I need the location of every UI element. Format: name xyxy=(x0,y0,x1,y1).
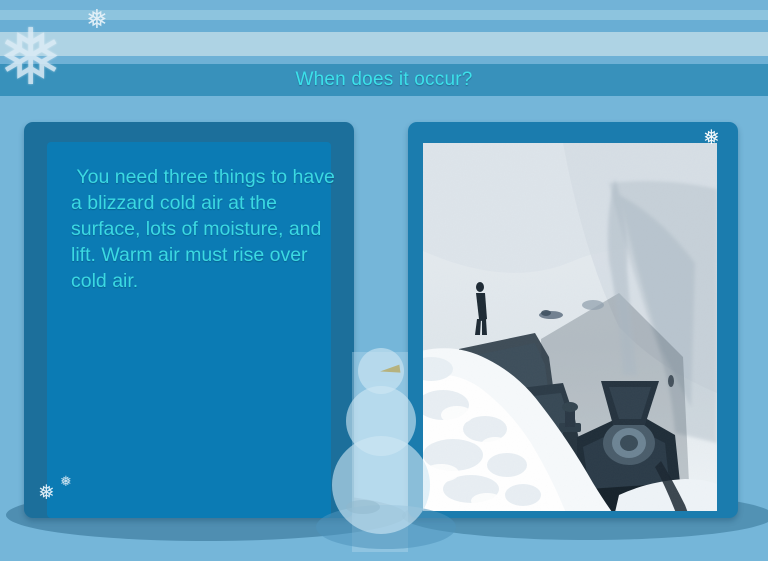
stripe-1 xyxy=(0,0,768,10)
snowman-head xyxy=(358,348,404,394)
snowflake-panel-bottom-left-1-icon: ❅ xyxy=(38,483,55,503)
snowman-base-highlight xyxy=(346,500,380,514)
snowflake-header-small-icon: ❅ xyxy=(86,6,108,32)
body-paragraph: You need three things to have a blizzard… xyxy=(71,164,347,294)
slide-canvas: When does it occur? ❅ ❅ You need three t… xyxy=(0,0,768,561)
text-panel-inner: You need three things to have a blizzard… xyxy=(47,142,331,518)
photo-panel xyxy=(408,122,738,518)
stripe-3 xyxy=(0,20,768,32)
snowflake-header-large-icon: ❅ xyxy=(0,18,63,96)
photo-image xyxy=(423,143,717,511)
snowflake-photo-corner-icon: ❅ xyxy=(703,128,720,148)
snowman-graphic xyxy=(322,348,440,548)
stripe-2 xyxy=(0,10,768,20)
text-panel: You need three things to have a blizzard… xyxy=(24,122,354,518)
snowman-middle xyxy=(346,386,416,456)
page-title: When does it occur? xyxy=(0,62,768,98)
stripe-4 xyxy=(0,32,768,56)
snowflake-panel-bottom-left-2-icon: ❅ xyxy=(60,474,72,488)
snowman-carrot-nose-icon xyxy=(380,365,401,376)
stripe-7 xyxy=(0,96,768,115)
